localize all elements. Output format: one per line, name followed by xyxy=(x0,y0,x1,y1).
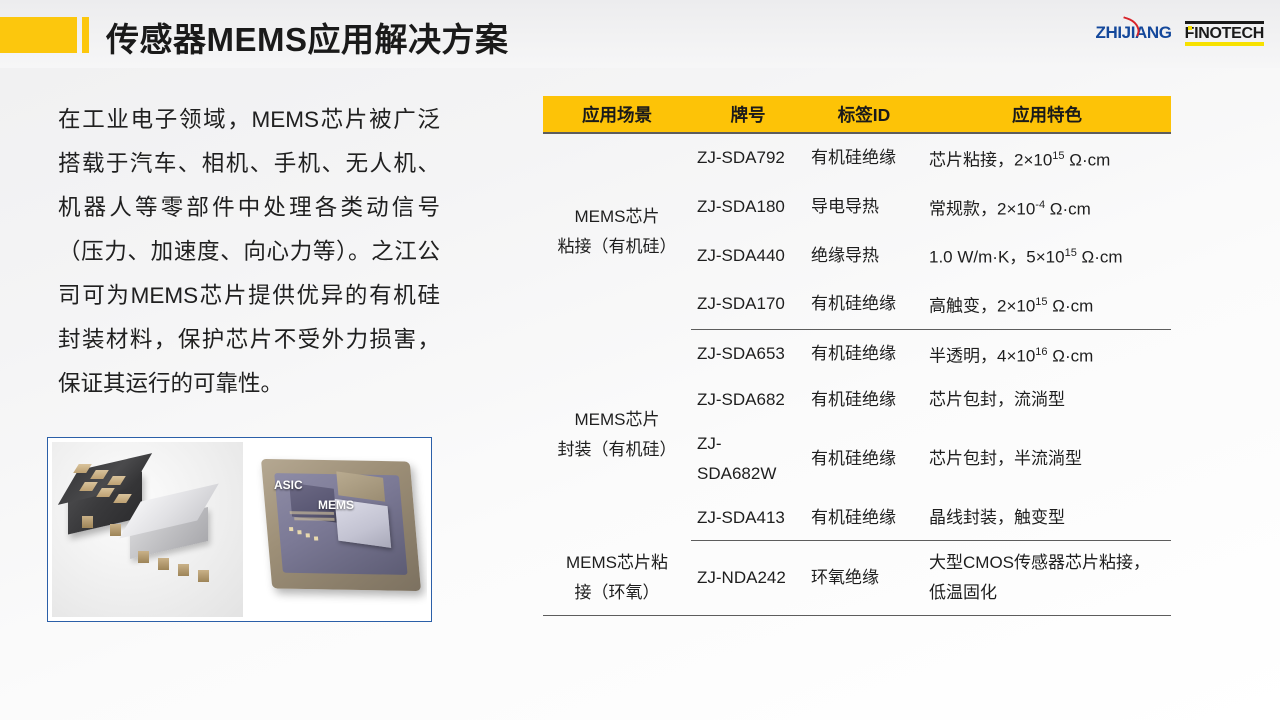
cell-feature: 晶线封装，触变型 xyxy=(923,496,1171,541)
logo-group: ZHIJIANG FINOTECH xyxy=(1095,22,1264,43)
cell-tag-id: 环氧绝缘 xyxy=(805,541,923,616)
bond-pad xyxy=(297,530,301,534)
column-header-tagid: 标签ID xyxy=(805,96,923,133)
chip-lead xyxy=(138,551,149,563)
chip-lead xyxy=(110,524,121,536)
cell-tag-id: 有机硅绝缘 xyxy=(805,133,923,183)
cell-feature: 常规款，2×10-4 Ω·cm xyxy=(923,183,1171,232)
column-header-feature: 应用特色 xyxy=(923,96,1171,133)
slide-header: 传感器MEMS应用解决方案 ZHIJIANG FINOTECH xyxy=(0,0,1280,68)
cell-application-scene: MEMS芯片粘接（有机硅） xyxy=(543,133,691,329)
logo-top-rule xyxy=(1185,21,1264,24)
spec-table: 应用场景 牌号 标签ID 应用特色 MEMS芯片粘接（有机硅）ZJ-SDA792… xyxy=(543,96,1171,616)
cell-grade: ZJ-SDA413 xyxy=(691,496,805,541)
bond-pad xyxy=(289,527,293,531)
cell-feature: 芯片包封，半流淌型 xyxy=(923,422,1171,496)
logo-bottom-rule xyxy=(1185,42,1264,46)
zhijiang-logo: ZHIJIANG xyxy=(1095,23,1171,43)
chip-lead xyxy=(178,564,189,576)
cell-grade: ZJ-SDA440 xyxy=(691,231,805,280)
cell-grade: ZJ-SDA170 xyxy=(691,280,805,329)
cell-grade: ZJ-SDA682 xyxy=(691,378,805,422)
cell-application-scene: MEMS芯片粘接（环氧） xyxy=(543,541,691,616)
mems-label: MEMS xyxy=(318,498,354,512)
cell-grade: ZJ-SDA682W xyxy=(691,422,805,496)
cell-feature: 芯片粘接，2×1015 Ω·cm xyxy=(923,133,1171,183)
bond-pad xyxy=(314,536,318,540)
cell-grade: ZJ-NDA242 xyxy=(691,541,805,616)
asic-label: ASIC xyxy=(274,478,303,492)
cell-grade: ZJ-SDA653 xyxy=(691,329,805,378)
table-header-row: 应用场景 牌号 标签ID 应用特色 xyxy=(543,96,1171,133)
cell-feature: 半透明，4×1016 Ω·cm xyxy=(923,329,1171,378)
photo-chip-packages xyxy=(52,442,243,617)
chip-lead xyxy=(198,570,209,582)
photo-mems-module: ASIC MEMS xyxy=(243,442,427,617)
finotech-logo: FINOTECH xyxy=(1185,22,1264,43)
cell-tag-id: 绝缘导热 xyxy=(805,231,923,280)
cell-tag-id: 有机硅绝缘 xyxy=(805,329,923,378)
cell-tag-id: 有机硅绝缘 xyxy=(805,280,923,329)
cell-tag-id: 有机硅绝缘 xyxy=(805,378,923,422)
cell-tag-id: 有机硅绝缘 xyxy=(805,496,923,541)
chip-lead xyxy=(158,558,169,570)
intro-paragraph: 在工业电子领域，MEMS芯片被广泛搭载于汽车、相机、手机、无人机、机器人等零部件… xyxy=(58,98,440,406)
chip-lead xyxy=(82,516,93,528)
column-header-grade: 牌号 xyxy=(691,96,805,133)
bond-pad xyxy=(306,533,310,537)
cell-tag-id: 导电导热 xyxy=(805,183,923,232)
product-photo: ASIC MEMS xyxy=(47,437,432,622)
page-title: 传感器MEMS应用解决方案 xyxy=(106,13,509,61)
header-accent-bar-small xyxy=(82,17,89,53)
cell-feature: 1.0 W/m·K，5×1015 Ω·cm xyxy=(923,231,1171,280)
cell-tag-id: 有机硅绝缘 xyxy=(805,422,923,496)
spec-table-container: 应用场景 牌号 标签ID 应用特色 MEMS芯片粘接（有机硅）ZJ-SDA792… xyxy=(543,96,1171,616)
table-row: MEMS芯片粘接（环氧）ZJ-NDA242环氧绝缘大型CMOS传感器芯片粘接，低… xyxy=(543,541,1171,616)
finotech-logo-text: FINOTECH xyxy=(1185,25,1264,42)
column-header-scene: 应用场景 xyxy=(543,96,691,133)
logo-dot-icon xyxy=(1188,26,1192,30)
table-row: MEMS芯片封装（有机硅）ZJ-SDA653有机硅绝缘半透明，4×1016 Ω·… xyxy=(543,329,1171,378)
cell-application-scene: MEMS芯片封装（有机硅） xyxy=(543,329,691,541)
cell-grade: ZJ-SDA180 xyxy=(691,183,805,232)
slide-canvas: 传感器MEMS应用解决方案 ZHIJIANG FINOTECH 在工业电子领域，… xyxy=(0,0,1280,720)
table-row: MEMS芯片粘接（有机硅）ZJ-SDA792有机硅绝缘芯片粘接，2×1015 Ω… xyxy=(543,133,1171,183)
header-accent-bar-large xyxy=(0,17,77,53)
cell-feature: 高触变，2×1015 Ω·cm xyxy=(923,280,1171,329)
cell-feature: 大型CMOS传感器芯片粘接，低温固化 xyxy=(923,541,1171,616)
cell-feature: 芯片包封，流淌型 xyxy=(923,378,1171,422)
cell-grade: ZJ-SDA792 xyxy=(691,133,805,183)
